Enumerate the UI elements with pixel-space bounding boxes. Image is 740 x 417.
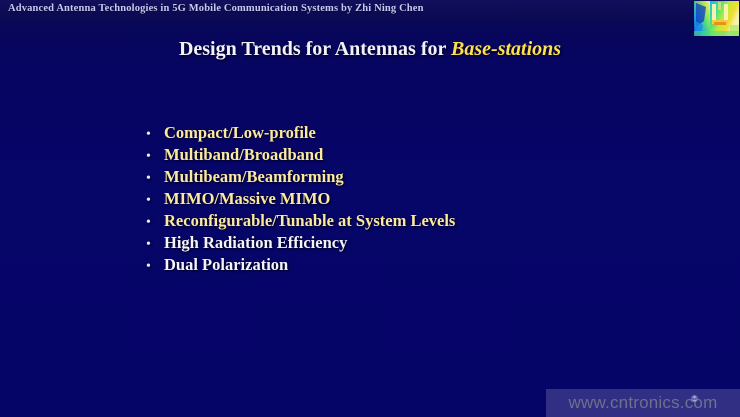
bullet-label: High Radiation Efficiency (164, 232, 347, 254)
bullet-label: Multiband/Broadband (164, 144, 323, 166)
bullet-marker-icon: • (146, 190, 164, 212)
slide-title: Design Trends for Antennas for Base-stat… (0, 38, 740, 61)
list-item: • Dual Polarization (146, 254, 706, 276)
slide-title-accent: Base-stations (451, 38, 561, 60)
slide-header-band: Advanced Antenna Technologies in 5G Mobi… (0, 0, 740, 21)
bullet-list: • Compact/Low-profile • Multiband/Broadb… (146, 122, 706, 276)
bullet-label: MIMO/Massive MIMO (164, 188, 330, 210)
watermark-badge-icon (690, 394, 699, 403)
heatmap-icon (694, 1, 739, 36)
slide-canvas: Advanced Antenna Technologies in 5G Mobi… (0, 0, 740, 417)
bullet-label: Multibeam/Beamforming (164, 166, 344, 188)
watermark: www.cntronics.com (546, 389, 740, 417)
bullet-label: Dual Polarization (164, 254, 288, 276)
list-item: • MIMO/Massive MIMO (146, 188, 706, 210)
list-item: • Compact/Low-profile (146, 122, 706, 144)
slide-title-main: Design Trends for Antennas for (179, 38, 451, 60)
presentation-title: Advanced Antenna Technologies in 5G Mobi… (8, 3, 424, 14)
bullet-marker-icon: • (146, 146, 164, 168)
list-item: • High Radiation Efficiency (146, 232, 706, 254)
bullet-marker-icon: • (146, 124, 164, 146)
bullet-marker-icon: • (146, 234, 164, 256)
antenna-field-simulation-thumbnail (694, 1, 739, 36)
bullet-marker-icon: • (146, 256, 164, 278)
bullet-marker-icon: • (146, 168, 164, 190)
list-item: • Multiband/Broadband (146, 144, 706, 166)
list-item: • Reconfigurable/Tunable at System Level… (146, 210, 706, 232)
bullet-marker-icon: • (146, 212, 164, 234)
bullet-label: Compact/Low-profile (164, 122, 316, 144)
list-item: • Multibeam/Beamforming (146, 166, 706, 188)
bullet-label: Reconfigurable/Tunable at System Levels (164, 210, 455, 232)
